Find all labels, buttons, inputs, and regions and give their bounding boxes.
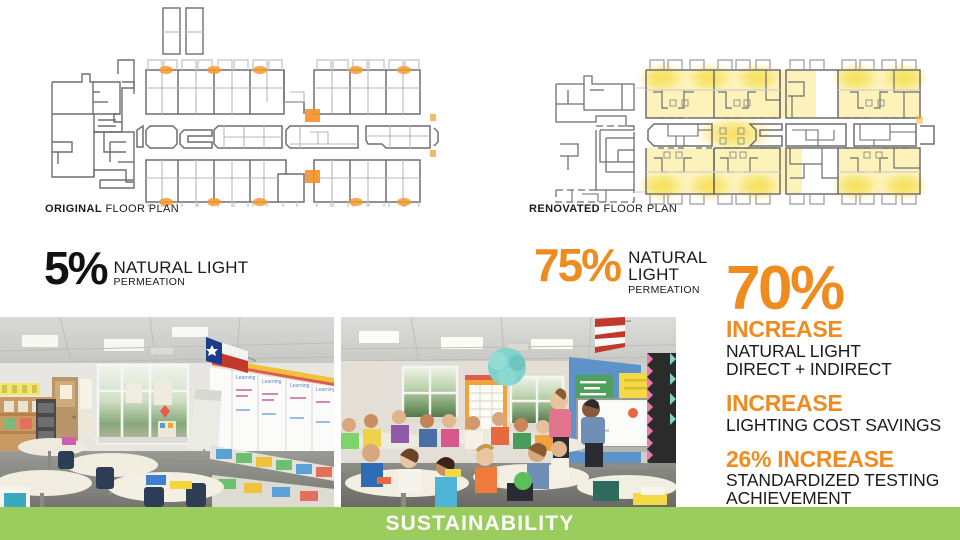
result-sub-line1: STANDARDIZED TESTING <box>726 471 960 489</box>
floor-plan-original-icon <box>38 2 458 207</box>
stat-before-label-line1: NATURAL LIGHT <box>113 259 248 276</box>
banner-title: SUSTAINABILITY <box>385 512 574 536</box>
caption-bold: RENOVATED <box>529 203 600 215</box>
result-item-natural-light: INCREASE NATURAL LIGHT DIRECT + INDIRECT <box>726 318 960 378</box>
result-head: INCREASE <box>726 318 960 341</box>
svg-text:Learning: Learning <box>262 379 282 385</box>
sustainability-banner: SUSTAINABILITY <box>0 507 960 540</box>
original-floor-plan-caption: ORIGINAL FLOOR PLAN <box>45 203 179 215</box>
renovated-floor-plan-graphic <box>538 52 954 207</box>
caption-rest: FLOOR PLAN <box>600 203 677 215</box>
result-sub-line1: LIGHTING COST SAVINGS <box>726 416 960 434</box>
stat-after: 75% NATURAL LIGHT PERMEATION <box>534 244 708 297</box>
stat-before: 5% NATURAL LIGHT PERMEATION <box>44 247 248 289</box>
stat-after-label-line1b: LIGHT <box>628 266 708 283</box>
stat-after-label-line1: NATURAL <box>628 249 708 266</box>
result-sub-line1: NATURAL LIGHT <box>726 342 960 360</box>
stat-after-label-line2: PERMEATION <box>628 284 708 297</box>
result-item-cost-savings: INCREASE LIGHTING COST SAVINGS <box>726 392 960 434</box>
results-panel: 70% INCREASE NATURAL LIGHT DIRECT + INDI… <box>726 262 960 508</box>
result-head: 26% INCREASE <box>726 448 960 471</box>
renovated-floor-plan-caption: RENOVATED FLOOR PLAN <box>529 203 677 215</box>
results-hero-value: 70% <box>726 262 960 315</box>
stat-before-label-line2: PERMEATION <box>113 276 248 289</box>
daylight-glow-group <box>636 62 930 202</box>
result-item-testing-achievement: 26% INCREASE STANDARDIZED TESTING ACHIEV… <box>726 448 960 508</box>
classroom-empty-photo: LearningLearning LearningLearning <box>0 317 334 507</box>
result-sub-line2: ACHIEVEMENT <box>726 489 960 507</box>
original-floor-plan-graphic <box>38 2 458 207</box>
result-head: INCREASE <box>726 392 960 415</box>
svg-text:Learning: Learning <box>316 387 334 393</box>
slide-canvas: ORIGINAL FLOOR PLAN <box>0 0 960 540</box>
classroom-students-photo <box>341 317 676 507</box>
stat-after-value: 75% <box>534 244 620 286</box>
floor-plan-renovated-icon <box>538 52 954 207</box>
result-sub-line2: DIRECT + INDIRECT <box>726 360 960 378</box>
svg-text:Learning: Learning <box>290 383 310 389</box>
caption-bold: ORIGINAL <box>45 203 102 215</box>
caption-rest: FLOOR PLAN <box>102 203 179 215</box>
stat-before-value: 5% <box>44 247 106 289</box>
svg-text:Learning: Learning <box>236 375 256 381</box>
